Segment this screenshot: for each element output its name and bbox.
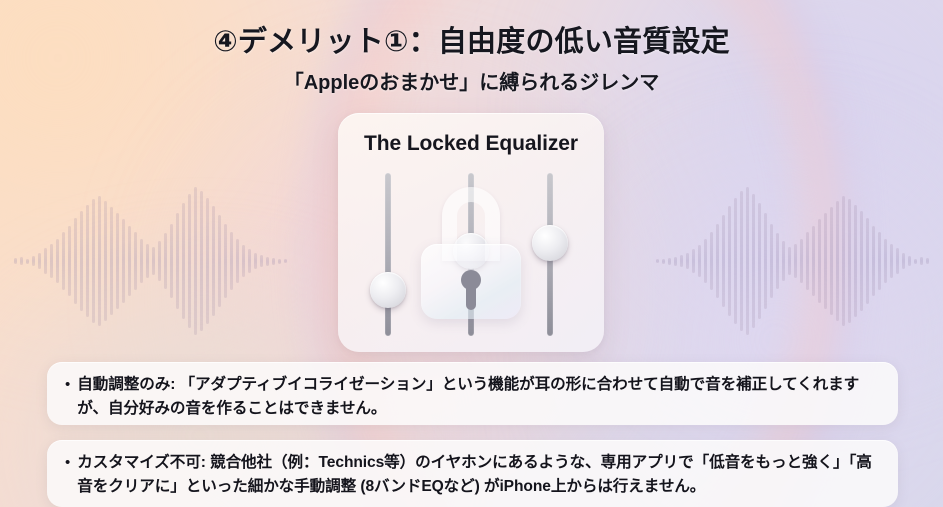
waveform-bar [896, 248, 899, 274]
waveform-bar [38, 253, 41, 269]
high-band-slider[interactable] [545, 173, 555, 336]
waveform-bar [236, 239, 239, 283]
waveform-bar [62, 232, 65, 290]
waveform-bar [176, 213, 179, 309]
waveform-bar [146, 244, 149, 278]
waveform-bar [86, 205, 89, 317]
waveform-bar [56, 239, 59, 283]
waveform-bar [872, 226, 875, 296]
slide-title: ④デメリット①：自由度の低い音質設定 [0, 18, 943, 60]
waveform-bar [164, 233, 167, 289]
waveform-bar [242, 245, 245, 277]
waveform-bar [194, 187, 197, 335]
waveform-bar [50, 244, 53, 278]
waveform-bar [212, 206, 215, 316]
slider-knob[interactable] [370, 272, 406, 308]
waveform-bar [140, 239, 143, 283]
low-band-slider[interactable] [383, 173, 393, 336]
waveform-bar [890, 244, 893, 278]
waveform-bar [104, 201, 107, 321]
slide-canvas: ④デメリット①：自由度の低い音質設定 「Appleのおまかせ」に縛られるジレンマ… [0, 0, 943, 507]
locked-equalizer-card: The Locked Equalizer [338, 113, 604, 352]
waveform-bar [284, 259, 287, 263]
waveform-bar [272, 258, 275, 265]
waveform-bar [170, 224, 173, 298]
waveform-bar [74, 218, 77, 304]
waveform-bar [32, 256, 35, 266]
waveform-bar [188, 194, 191, 328]
waveform-bar [158, 241, 161, 281]
waveform-bar [98, 196, 101, 326]
waveform-bar [44, 248, 47, 274]
waveform-bar [128, 226, 131, 296]
waveform-bar [878, 232, 881, 290]
waveform-bar [866, 218, 869, 304]
waveform-bar [218, 215, 221, 307]
waveform-bar [68, 226, 71, 296]
waveform-bar [20, 257, 23, 265]
slider-knob[interactable] [532, 225, 568, 261]
waveform-bar [116, 213, 119, 309]
waveform-bar [254, 253, 257, 269]
waveform-bar [26, 259, 29, 264]
waveform-bar [860, 211, 863, 311]
bullet-item-2: • カスタマイズ不可: 競合他社（例：Technics等）のイヤホンにあるような… [47, 440, 898, 507]
waveform-bar [278, 259, 281, 264]
waveform-bar [926, 258, 929, 264]
waveform-bar [914, 259, 917, 264]
bullet-marker: • [65, 373, 70, 414]
mid-band-slider[interactable] [466, 173, 476, 336]
waveform-bar [182, 203, 185, 319]
waveform-bar [224, 224, 227, 298]
waveform-bar [152, 247, 155, 275]
slide-subtitle: 「Appleのおまかせ」に縛られるジレンマ [0, 66, 943, 95]
waveform-bar [92, 199, 95, 323]
waveform-bar [902, 253, 905, 269]
slider-track[interactable] [385, 173, 391, 336]
waveform-bar [908, 256, 911, 266]
waveform-decoration-left [14, 176, 287, 346]
waveform-bar [80, 211, 83, 311]
waveform-bar [122, 219, 125, 303]
waveform-bar [110, 207, 113, 315]
waveform-bar [920, 257, 923, 265]
waveform-bar [260, 255, 263, 267]
waveform-bar [266, 257, 269, 266]
waveform-bar [14, 258, 17, 264]
bullet-text: カスタマイズ不可: 競合他社（例：Technics等）のイヤホンにあるような、専… [77, 451, 884, 496]
eq-card-title: The Locked Equalizer [338, 132, 604, 156]
bullet-item-1: • 自動調整のみ: 「アダプティブイコライゼーション」という機能が耳の形に合わせ… [47, 362, 898, 425]
waveform-bar [248, 249, 251, 273]
slider-knob[interactable] [453, 233, 489, 269]
bullet-text: 自動調整のみ: 「アダプティブイコライゼーション」という機能が耳の形に合わせて自… [77, 373, 884, 414]
waveform-bar [230, 232, 233, 290]
bullet-marker: • [65, 451, 70, 496]
waveform-bar [206, 198, 209, 324]
waveform-bar [134, 232, 137, 290]
waveform-bar [200, 191, 203, 331]
waveform-bar [884, 239, 887, 283]
